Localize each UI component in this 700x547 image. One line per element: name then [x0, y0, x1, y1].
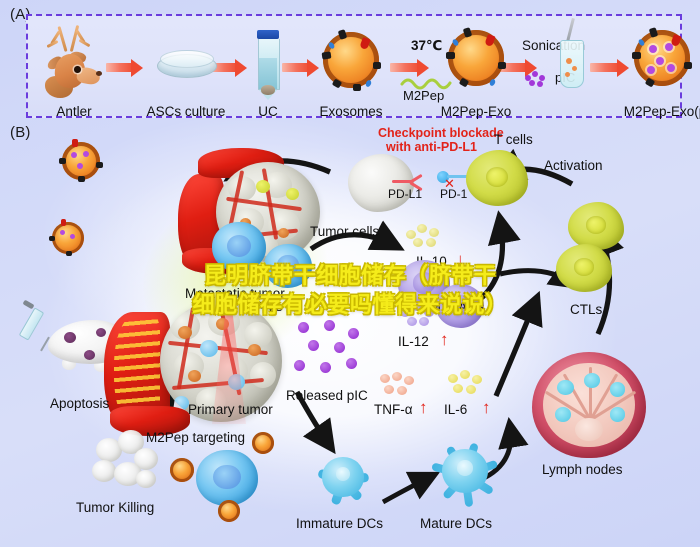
step-m2pep-exo-pic: M2Pep-Exo(pIC): [620, 22, 700, 118]
pd-1-label: PD-1: [440, 188, 467, 202]
il12-arrow: ↑: [440, 330, 449, 350]
panel-a-synthesis-scheme: Antler ASCs culture UC: [26, 14, 682, 118]
t-cells-label: T cells: [494, 132, 533, 148]
il6-dots-icon: [446, 370, 486, 396]
arrow-exosomes-to-m2pepexo: [390, 63, 418, 72]
primary-tumor-label: Primary tumor: [188, 402, 273, 418]
step-m2pep-exo: M2Pep-Exo: [428, 22, 524, 118]
tumor-killing-label: Tumor Killing: [76, 500, 154, 516]
step-caption-ascs: ASCs culture: [147, 104, 226, 119]
immature-dcs-label: Immature DCs: [296, 516, 383, 532]
petri-dish-icon: [157, 50, 215, 80]
tnfa-label: TNF-α: [374, 402, 413, 418]
il12-label: IL-12: [398, 334, 429, 350]
step-caption-exosomes: Exosomes: [319, 104, 382, 119]
nanoparticle-icon: [252, 432, 274, 454]
panel-b-mechanism-scheme: Metastatic tumor Tumor cells Checkpoint …: [0, 124, 700, 547]
m2-tam-illustration: [264, 244, 312, 288]
centrifuge-tube-icon: [256, 30, 280, 100]
figure-canvas: (A) (B): [0, 0, 700, 547]
checkpoint-blockade-line2: with anti-PD-L1: [386, 140, 477, 154]
nanoparticle-icon: [170, 458, 194, 482]
lymph-node-illustration: [532, 352, 646, 458]
step-caption-uc: UC: [258, 104, 278, 119]
step-caption-antler: Antler: [56, 104, 91, 119]
ctls-label: CTLs: [570, 302, 602, 318]
nanoparticle-icon: [218, 500, 240, 522]
il10-arrow: ↓: [456, 250, 465, 270]
nanoparticle-icon: [52, 222, 84, 254]
checkpoint-blockade-line1: Checkpoint blockade: [378, 126, 504, 140]
ctl-cell-illustration: [568, 202, 624, 250]
pd-l1-label: PD-L1: [388, 188, 422, 202]
exosome-peptide-icon: [448, 30, 504, 86]
step-exosomes: Exosomes: [310, 22, 392, 118]
released-pic-label: Released pIC: [286, 388, 368, 404]
mature-dc-illustration: [424, 432, 506, 510]
m1-tams-label: M1 TAMs: [430, 300, 484, 315]
arrow-sonication-to-product: [590, 63, 618, 72]
pic-dots-icon: [525, 71, 551, 87]
step-antler: Antler: [44, 22, 104, 118]
il10-dots-icon: [406, 222, 446, 248]
deer-icon: [39, 24, 109, 98]
tnfa-arrow: ↑: [419, 398, 428, 418]
targeted-macrophage-illustration: [196, 450, 258, 506]
nanoparticle-icon: [62, 142, 100, 180]
step-caption-m2pep-exo-pic: M2Pep-Exo(pIC): [624, 104, 700, 119]
t-cell-illustration: [466, 150, 528, 206]
lymph-nodes-label: Lymph nodes: [542, 462, 623, 478]
primary-tumor-illustration: [104, 294, 294, 444]
activation-label: Activation: [544, 158, 603, 174]
mature-dcs-label: Mature DCs: [420, 516, 492, 532]
exosome-loaded-icon: [634, 30, 690, 86]
arrow-antler-to-culture: [106, 63, 132, 72]
sonicator-icon: [558, 32, 584, 94]
step-uc: UC: [240, 22, 296, 118]
exosome-icon: [323, 32, 379, 88]
il6-arrow: ↑: [482, 398, 491, 418]
apoptosis-label: Apoptosis: [50, 396, 109, 412]
il12-dots-icon: [398, 302, 438, 328]
immature-dc-illustration: [306, 442, 380, 512]
il6-label: IL-6: [444, 402, 467, 418]
step-caption-m2pep-exo: M2Pep-Exo: [441, 104, 512, 119]
tumor-cells-label: Tumor cells: [310, 224, 379, 240]
tnfa-dots-icon: [378, 372, 418, 398]
ctl-cell-illustration: [556, 244, 612, 292]
m2-tam-illustration: [212, 222, 266, 272]
released-pic-dots-icon: [290, 320, 368, 386]
m2pep-targeting-label: M2Pep targeting: [146, 430, 245, 446]
step-ascs-culture: ASCs culture: [138, 22, 234, 118]
